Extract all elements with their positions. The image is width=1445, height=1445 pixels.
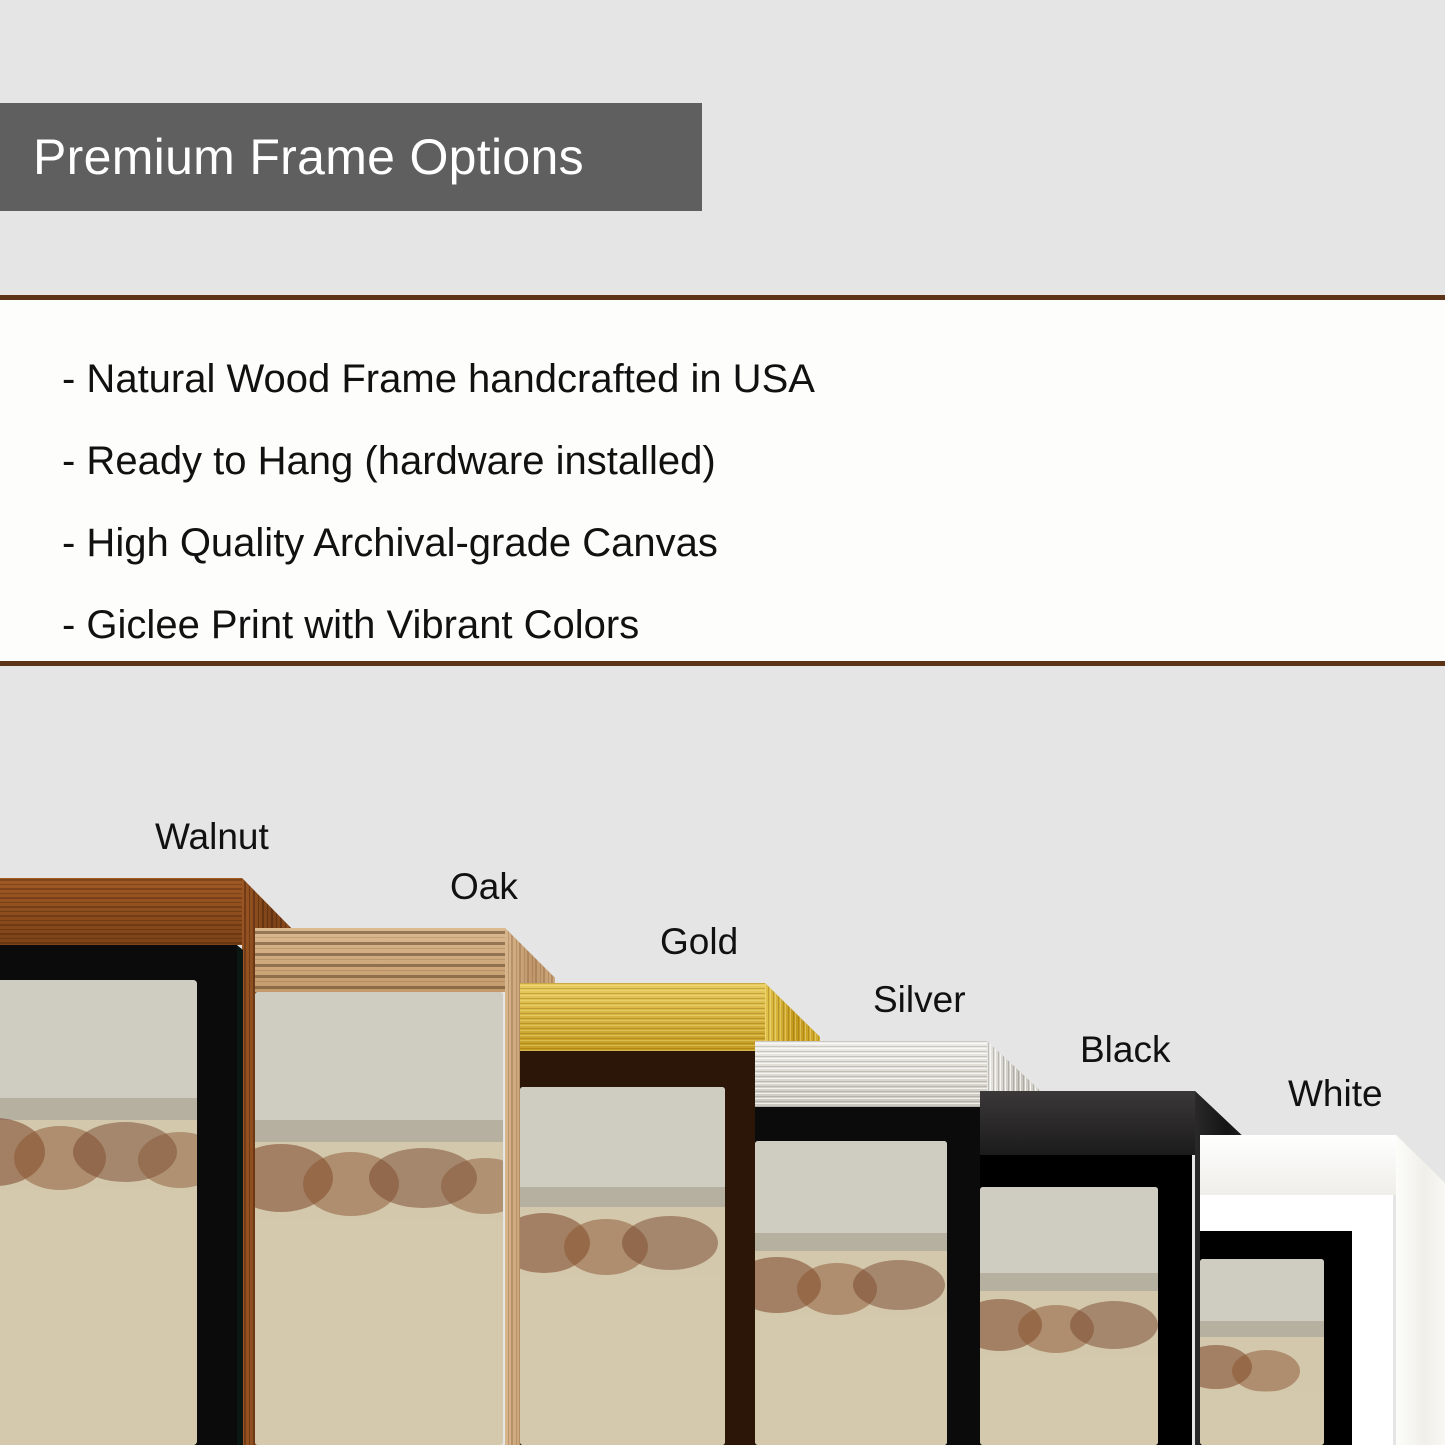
frame-oak-graphic (255, 920, 555, 1445)
header-zone: Premium Frame Options (0, 0, 1445, 297)
frame-label-black: Black (1080, 1031, 1170, 1068)
features-list: - Natural Wood Frame handcrafted in USA … (0, 300, 1445, 666)
title-banner: Premium Frame Options (0, 103, 702, 211)
frame-label-oak: Oak (450, 868, 518, 905)
frame-walnut-graphic (0, 870, 295, 1445)
frame-label-white: White (1288, 1075, 1383, 1112)
frame-option-oak[interactable]: Oak (255, 920, 555, 1445)
list-item: - Ready to Hang (hardware installed) (0, 420, 1445, 502)
frame-showcase: Walnut (0, 666, 1445, 1445)
frame-white-graphic (1200, 1127, 1445, 1445)
list-item: - High Quality Archival-grade Canvas (0, 502, 1445, 584)
list-item: - Giclee Print with Vibrant Colors (0, 584, 1445, 666)
frame-label-silver: Silver (873, 981, 966, 1018)
frame-option-walnut[interactable]: Walnut (0, 870, 295, 1445)
frame-label-walnut: Walnut (155, 818, 269, 855)
frame-options-page: Premium Frame Options - Natural Wood Fra… (0, 0, 1445, 1445)
page-title: Premium Frame Options (0, 132, 584, 182)
frame-option-white[interactable]: White (1200, 1127, 1445, 1445)
frame-label-gold: Gold (660, 923, 738, 960)
list-item: - Natural Wood Frame handcrafted in USA (0, 338, 1445, 420)
features-panel: - Natural Wood Frame handcrafted in USA … (0, 300, 1445, 661)
